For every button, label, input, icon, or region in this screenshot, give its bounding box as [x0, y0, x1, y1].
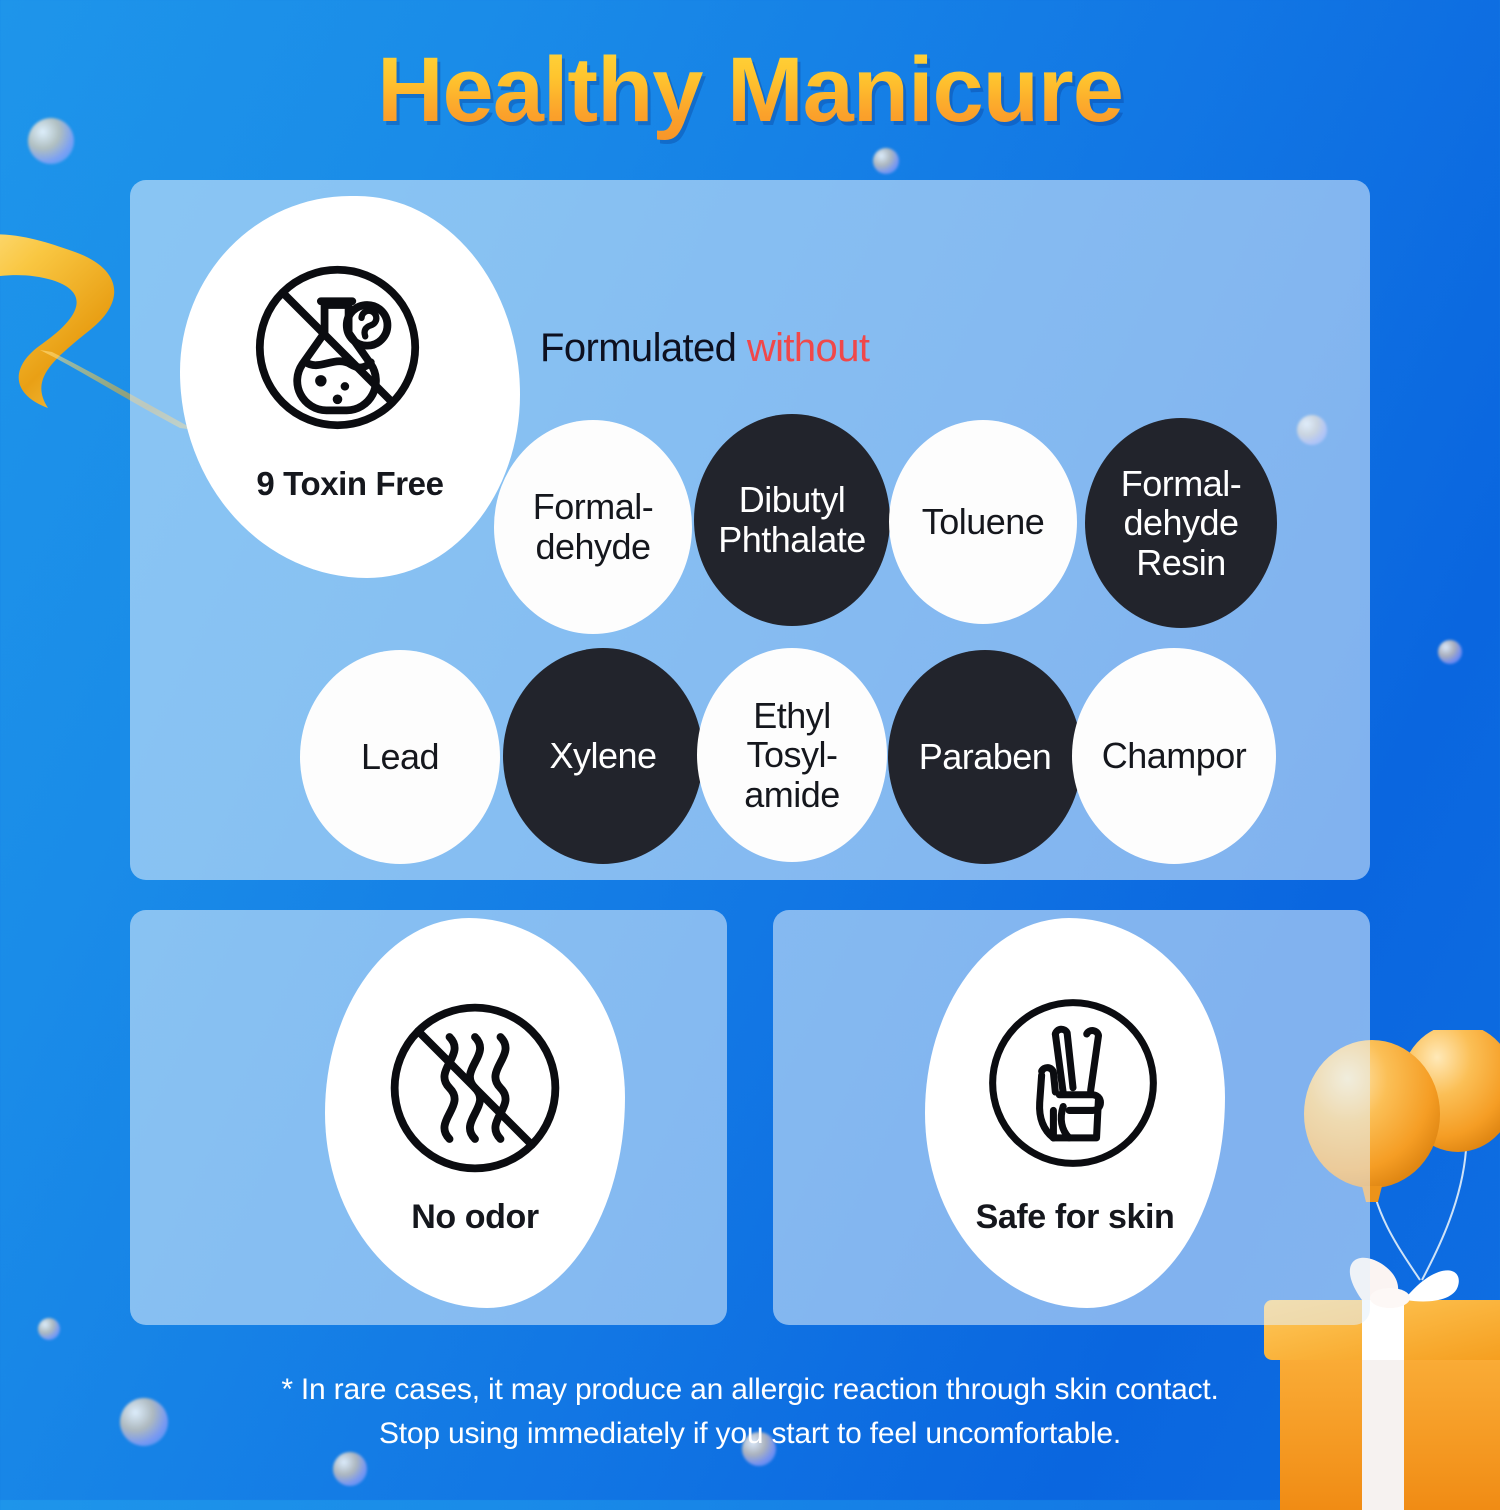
ingredient-label: Lead — [361, 737, 439, 777]
ingredient-label: Toluene — [922, 502, 1045, 542]
formulated-highlight: without — [747, 326, 870, 370]
ingredient-bubble: Champor — [1072, 648, 1276, 864]
ingredient-label: DibutylPhthalate — [718, 480, 866, 559]
formulated-prefix: Formulated — [540, 326, 747, 370]
ingredient-bubble: Lead — [300, 650, 500, 864]
footnote-line-1: * In rare cases, it may produce an aller… — [0, 1368, 1500, 1412]
ingredient-label: Xylene — [549, 736, 656, 776]
ingredient-bubble: Xylene — [503, 648, 703, 864]
footnote-line-2: Stop using immediately if you start to f… — [0, 1412, 1500, 1456]
toxin-free-label: 9 Toxin Free — [180, 465, 520, 503]
confetti-dot — [38, 1318, 60, 1340]
confetti-dot — [1438, 640, 1462, 664]
ingredient-label: EthylTosyl-amide — [744, 696, 840, 815]
confetti-dot — [873, 148, 899, 174]
ingredient-label: Paraben — [919, 737, 1052, 777]
ingredient-label: Formal-dehydeResin — [1121, 464, 1242, 583]
page-title: Healthy Manicure — [0, 38, 1500, 143]
ingredient-bubble: EthylTosyl-amide — [697, 648, 887, 862]
ingredient-bubble: Formal-dehyde — [494, 420, 692, 634]
formulated-without-heading: Formulated without — [540, 326, 869, 371]
ingredient-bubble: Toluene — [889, 420, 1077, 624]
safe-for-skin-label: Safe for skin — [925, 1198, 1225, 1237]
no-flask-icon — [245, 255, 430, 440]
peace-hand-icon — [975, 985, 1171, 1181]
footnote: * In rare cases, it may produce an aller… — [0, 1368, 1500, 1457]
no-odor-label: No odor — [325, 1198, 625, 1237]
ingredient-label: Formal-dehyde — [533, 487, 654, 566]
confetti-dot — [333, 1452, 367, 1486]
ingredient-label: Champor — [1102, 736, 1247, 776]
ingredient-bubble: Paraben — [888, 650, 1082, 864]
no-odor-icon — [377, 990, 573, 1186]
ingredient-bubble: Formal-dehydeResin — [1085, 418, 1277, 628]
ingredient-bubble: DibutylPhthalate — [694, 414, 890, 626]
